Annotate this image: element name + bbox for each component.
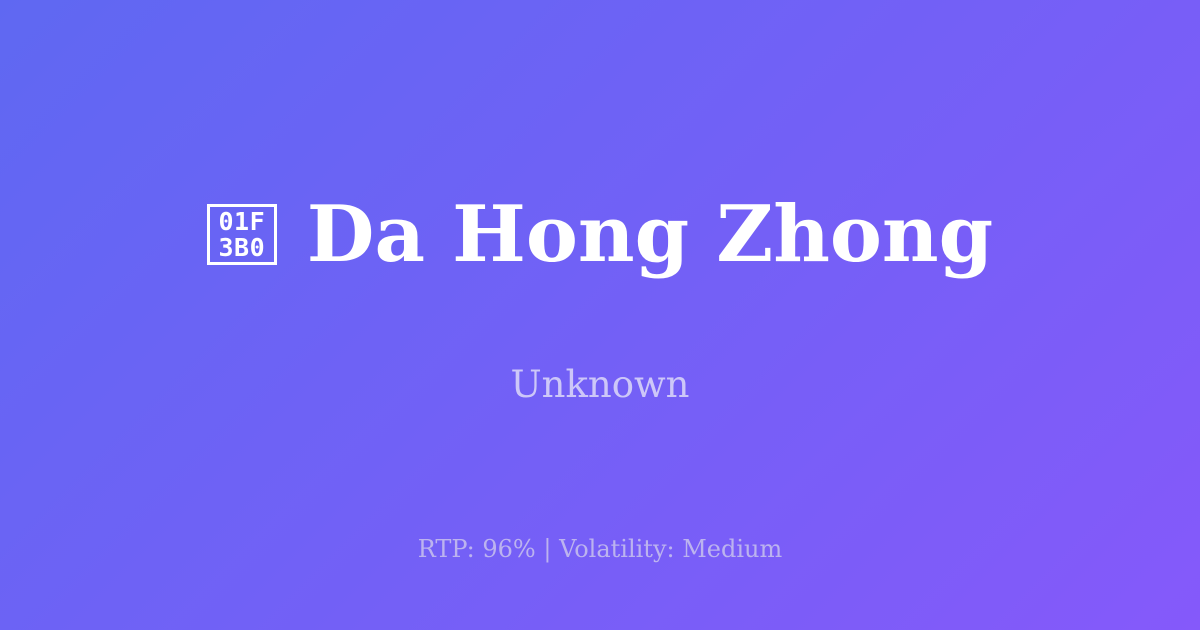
slot-machine-emoji-icon: 01F 3B0 [207,204,277,265]
title-line: 01F 3B0 Da Hong Zhong [207,194,993,276]
page-title: Da Hong Zhong [307,194,993,276]
game-og-card: 01F 3B0 Da Hong Zhong Unknown RTP: 96% |… [0,0,1200,630]
game-stats-footer: RTP: 96% | Volatility: Medium [0,535,1200,564]
codepoint-row-bottom: 3B0 [218,235,265,261]
game-provider-subtitle: Unknown [0,363,1200,407]
codepoint-row-top: 01F [218,209,265,235]
